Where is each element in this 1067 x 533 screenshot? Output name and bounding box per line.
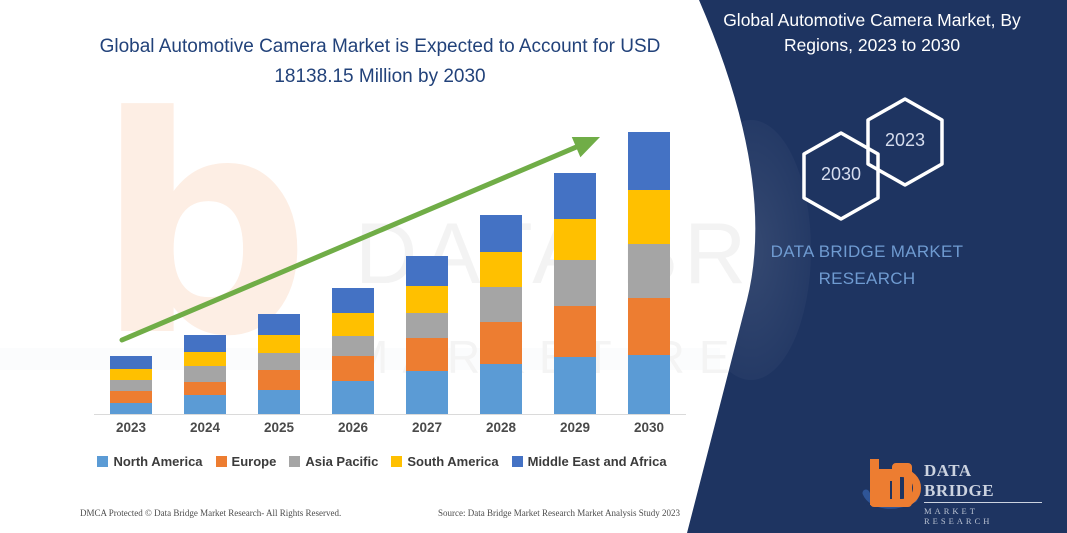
- legend-swatch: [97, 456, 108, 467]
- infographic-canvas: b DATA BRIDGE MARKET RESEARCH Global Aut…: [0, 0, 1067, 533]
- bar-segment: [480, 287, 522, 322]
- bar-segment: [332, 336, 374, 355]
- bar-2027: [406, 256, 448, 414]
- bar-segment: [628, 132, 670, 190]
- bar-segment: [332, 288, 374, 313]
- x-label-2027: 2027: [397, 420, 457, 435]
- bar-segment: [554, 306, 596, 356]
- bar-segment: [110, 403, 152, 414]
- hexagon-2030: 2030: [800, 130, 882, 222]
- bar-segment: [110, 369, 152, 380]
- footer-source: Source: Data Bridge Market Research Mark…: [438, 508, 680, 518]
- bar-2025: [258, 314, 300, 414]
- bar-segment: [258, 390, 300, 414]
- bar-segment: [628, 355, 670, 414]
- bar-segment: [258, 314, 300, 335]
- legend-label: Asia Pacific: [305, 454, 378, 469]
- bar-segment: [258, 335, 300, 352]
- bar-segment: [110, 356, 152, 369]
- bar-segment: [184, 395, 226, 414]
- bar-2028: [480, 215, 522, 414]
- bar-segment: [258, 353, 300, 370]
- legend-swatch: [391, 456, 402, 467]
- bar-segment: [332, 356, 374, 381]
- x-label-2028: 2028: [471, 420, 531, 435]
- x-axis-line: [94, 414, 686, 415]
- bar-segment: [480, 252, 522, 287]
- company-logo: DATA BRIDGE MARKET RESEARCH: [862, 455, 1042, 511]
- bar-2024: [184, 335, 226, 414]
- x-axis-labels: 20232024202520262027202820292030: [72, 420, 692, 442]
- bar-segment: [406, 256, 448, 286]
- bar-segment: [184, 352, 226, 366]
- bar-2029: [554, 173, 596, 414]
- bar-segment: [332, 313, 374, 336]
- brand-line-2: RESEARCH: [697, 265, 1037, 292]
- legend-label: South America: [407, 454, 498, 469]
- x-label-2023: 2023: [101, 420, 161, 435]
- logo-subtitle: MARKET RESEARCH: [924, 506, 1042, 526]
- bar-segment: [554, 219, 596, 260]
- bar-segment: [554, 173, 596, 218]
- hexagon-group: 2023 2030: [772, 96, 1002, 206]
- bar-segment: [480, 215, 522, 252]
- bar-segment: [480, 322, 522, 363]
- legend-item-middle-east-and-africa[interactable]: Middle East and Africa: [512, 454, 667, 469]
- bar-segment: [332, 381, 374, 414]
- legend-item-north-america[interactable]: North America: [97, 454, 202, 469]
- legend-swatch: [512, 456, 523, 467]
- chart-legend: North AmericaEuropeAsia PacificSouth Ame…: [72, 454, 692, 469]
- x-label-2030: 2030: [619, 420, 679, 435]
- x-label-2026: 2026: [323, 420, 383, 435]
- bar-segment: [110, 380, 152, 391]
- bar-segment: [110, 391, 152, 403]
- bar-segment: [184, 335, 226, 351]
- bar-segment: [406, 286, 448, 313]
- legend-item-south-america[interactable]: South America: [391, 454, 498, 469]
- bar-segment: [554, 260, 596, 306]
- page-title: Global Automotive Camera Market is Expec…: [70, 32, 690, 92]
- bar-segment: [184, 382, 226, 395]
- bar-segment: [480, 364, 522, 414]
- x-label-2025: 2025: [249, 420, 309, 435]
- x-label-2029: 2029: [545, 420, 605, 435]
- bar-segment: [554, 357, 596, 414]
- legend-swatch: [289, 456, 300, 467]
- brand-line-1: DATA BRIDGE MARKET: [697, 238, 1037, 265]
- legend-swatch: [216, 456, 227, 467]
- bar-segment: [628, 298, 670, 354]
- legend-label: Europe: [232, 454, 277, 469]
- bar-segment: [406, 338, 448, 370]
- bar-segment: [628, 244, 670, 298]
- bar-segment: [628, 190, 670, 243]
- legend-item-europe[interactable]: Europe: [216, 454, 277, 469]
- legend-label: Middle East and Africa: [528, 454, 667, 469]
- bar-segment: [406, 313, 448, 338]
- panel-title: Global Automotive Camera Market, By Regi…: [707, 8, 1037, 58]
- footer-copyright: DMCA Protected © Data Bridge Market Rese…: [80, 508, 341, 518]
- logo-title: DATA BRIDGE: [924, 461, 1042, 503]
- bar-segment: [184, 366, 226, 382]
- x-label-2024: 2024: [175, 420, 235, 435]
- bar-2023: [110, 356, 152, 414]
- hexagon-2030-label: 2030: [800, 164, 882, 185]
- right-panel: Global Automotive Camera Market, By Regi…: [667, 0, 1067, 533]
- bridge-mark-icon: [862, 455, 922, 511]
- logo-text: DATA BRIDGE MARKET RESEARCH: [924, 461, 1042, 526]
- stacked-bar-chart: [72, 110, 692, 415]
- brand-name: DATA BRIDGE MARKET RESEARCH: [697, 238, 1037, 292]
- bar-segment: [406, 371, 448, 414]
- footer: DMCA Protected © Data Bridge Market Rese…: [80, 508, 680, 518]
- legend-item-asia-pacific[interactable]: Asia Pacific: [289, 454, 378, 469]
- bar-segment: [258, 370, 300, 390]
- legend-label: North America: [113, 454, 202, 469]
- bar-2026: [332, 288, 374, 414]
- bar-2030: [628, 132, 670, 414]
